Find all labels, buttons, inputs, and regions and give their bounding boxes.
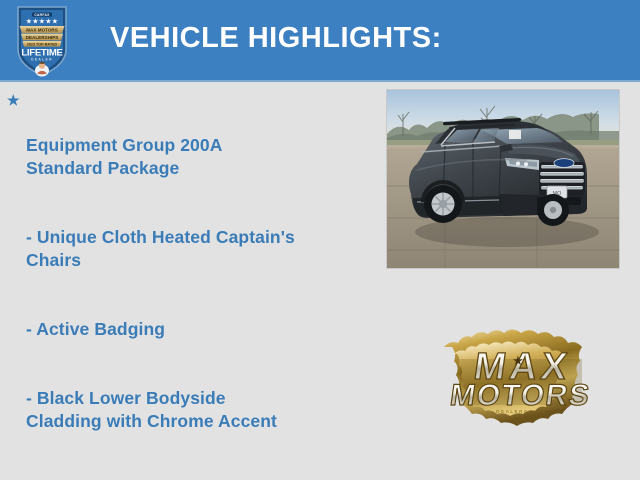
spacer [0, 433, 380, 456]
svg-text:DEALERSHIPS: DEALERSHIPS [496, 409, 546, 414]
header-underline [0, 80, 640, 82]
list-item-label: - Black Lower Bodyside Cladding with Chr… [26, 388, 277, 431]
spacer [0, 272, 380, 295]
list-item: - Unique Cloth Heated Captain's Chairs [0, 203, 380, 272]
max-motors-logo: MAX ★ MOTORS DEALERSHIPS [430, 327, 612, 427]
list-item: - Power Liftgate [0, 456, 380, 480]
page-title: VEHICLE HIGHLIGHTS: [110, 22, 442, 55]
list-item-label: - Active Badging [26, 319, 165, 339]
list-item: - Black Lower Bodyside Cladding with Chr… [0, 364, 380, 433]
vehicle-highlights-slide: CARFAX ★★★★★ MAX MOTORS DEALERSHIPS 2023… [0, 0, 640, 480]
svg-text:2023 TOP-RATED: 2023 TOP-RATED [27, 42, 58, 46]
list-item-label: - Unique Cloth Heated Captain's Chairs [26, 227, 295, 270]
svg-text:CARFAX: CARFAX [34, 13, 50, 17]
list-item-label: Equipment Group 200A Standard Package [26, 135, 222, 178]
star-bullet-icon: ★ [7, 89, 20, 112]
highlights-list: ★ Equipment Group 200A Standard Package … [0, 88, 380, 480]
list-item: ★ Equipment Group 200A Standard Package [0, 88, 380, 180]
spacer [0, 180, 380, 203]
vehicle-photo: MO [386, 89, 620, 269]
svg-text:DEALERSHIPS: DEALERSHIPS [26, 35, 59, 40]
svg-text:★★★★★: ★★★★★ [26, 17, 58, 25]
spacer [0, 341, 380, 364]
carfax-lifetime-dealer-badge: CARFAX ★★★★★ MAX MOTORS DEALERSHIPS 2023… [16, 3, 68, 77]
svg-text:MOTORS: MOTORS [448, 379, 593, 412]
list-item: - Active Badging [0, 295, 380, 341]
svg-text:MAX MOTORS: MAX MOTORS [26, 28, 58, 33]
svg-text:★: ★ [512, 354, 524, 369]
svg-text:DEALER: DEALER [31, 58, 53, 62]
